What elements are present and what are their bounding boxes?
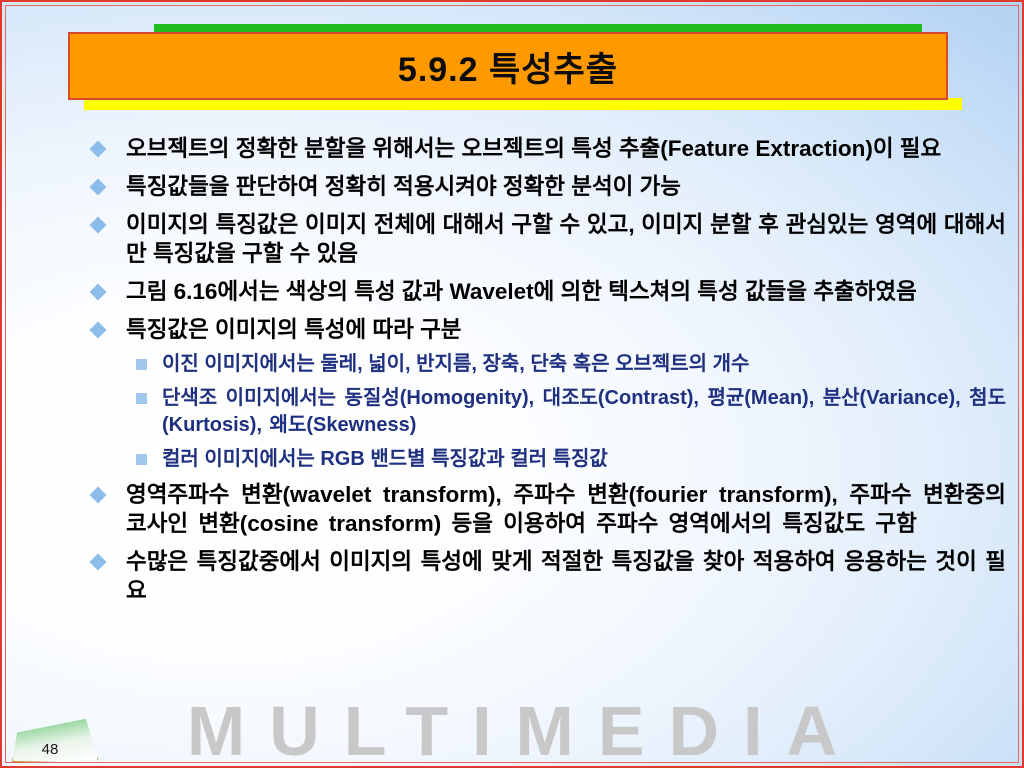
bullet-item: 특징값은 이미지의 특성에 따라 구분	[88, 315, 1006, 344]
slide-body: 오브젝트의 정확한 분할을 위해서는 오브젝트의 특성 추출(Feature E…	[88, 134, 1006, 614]
sub-bullet-item: 단색조 이미지에서는 동질성(Homogenity), 대조도(Contrast…	[136, 385, 1006, 439]
diamond-bullet-icon	[90, 179, 107, 196]
square-bullet-icon	[136, 454, 147, 465]
diamond-bullet-icon	[90, 284, 107, 301]
title-box: 5.9.2 특성추출	[68, 32, 948, 100]
bullet-item: 특징값들을 판단하여 정확히 적용시켜야 정확한 분석이 가능	[88, 172, 1006, 201]
bullet-text: 영역주파수 변환(wavelet transform), 주파수 변환(four…	[126, 482, 1006, 536]
square-bullet-icon	[136, 393, 147, 404]
sub-bullet-text: 이진 이미지에서는 둘레, 넓이, 반지름, 장축, 단축 혹은 오브젝트의 개…	[162, 353, 749, 375]
diamond-bullet-icon	[90, 217, 107, 234]
diamond-bullet-icon	[90, 141, 107, 158]
bullet-item: 수많은 특징값중에서 이미지의 특성에 맞게 적절한 특징값을 찾아 적용하여 …	[88, 547, 1006, 605]
sub-bullet-item: 이진 이미지에서는 둘레, 넓이, 반지름, 장축, 단축 혹은 오브젝트의 개…	[136, 351, 1006, 378]
sub-bullet-list: 이진 이미지에서는 둘레, 넓이, 반지름, 장축, 단축 혹은 오브젝트의 개…	[88, 351, 1006, 473]
slide-number-badge: 48	[12, 716, 98, 762]
footer-watermark: MULTIMEDIA	[2, 698, 1022, 764]
presentation-slide: 5.9.2 특성추출 오브젝트의 정확한 분할을 위해서는 오브젝트의 특성 추…	[0, 0, 1024, 768]
watermark-text: MULTIMEDIA	[163, 698, 861, 764]
bullet-item: 영역주파수 변환(wavelet transform), 주파수 변환(four…	[88, 480, 1006, 538]
bullet-item: 그림 6.16에서는 색상의 특성 값과 Wavelet에 의한 텍스쳐의 특성…	[88, 277, 1006, 306]
square-bullet-icon	[136, 359, 147, 370]
bullet-item: 이미지의 특징값은 이미지 전체에 대해서 구할 수 있고, 이미지 분할 후 …	[88, 210, 1006, 268]
bullet-text: 오브젝트의 정확한 분할을 위해서는 오브젝트의 특성 추출(Feature E…	[126, 136, 941, 161]
sub-bullet-item: 컬러 이미지에서는 RGB 밴드별 특징값과 컬러 특징값	[136, 446, 1006, 473]
bullet-item: 오브젝트의 정확한 분할을 위해서는 오브젝트의 특성 추출(Feature E…	[88, 134, 1006, 163]
sub-bullet-text: 컬러 이미지에서는 RGB 밴드별 특징값과 컬러 특징값	[162, 448, 608, 470]
diamond-bullet-icon	[90, 487, 107, 504]
bullet-text: 그림 6.16에서는 색상의 특성 값과 Wavelet에 의한 텍스쳐의 특성…	[126, 279, 917, 304]
slide-title: 5.9.2 특성추출	[398, 42, 618, 91]
bullet-text: 특징값은 이미지의 특성에 따라 구분	[126, 317, 462, 342]
diamond-bullet-icon	[90, 554, 107, 571]
sub-bullet-text: 단색조 이미지에서는 동질성(Homogenity), 대조도(Contrast…	[162, 387, 1006, 436]
bullet-text: 수많은 특징값중에서 이미지의 특성에 맞게 적절한 특징값을 찾아 적용하여 …	[126, 549, 1006, 603]
title-banner: 5.9.2 특성추출	[68, 24, 962, 108]
bullet-text: 이미지의 특징값은 이미지 전체에 대해서 구할 수 있고, 이미지 분할 후 …	[126, 212, 1006, 266]
diamond-bullet-icon	[90, 322, 107, 339]
slide-number: 48	[12, 741, 88, 758]
bullet-text: 특징값들을 판단하여 정확히 적용시켜야 정확한 분석이 가능	[126, 174, 681, 199]
